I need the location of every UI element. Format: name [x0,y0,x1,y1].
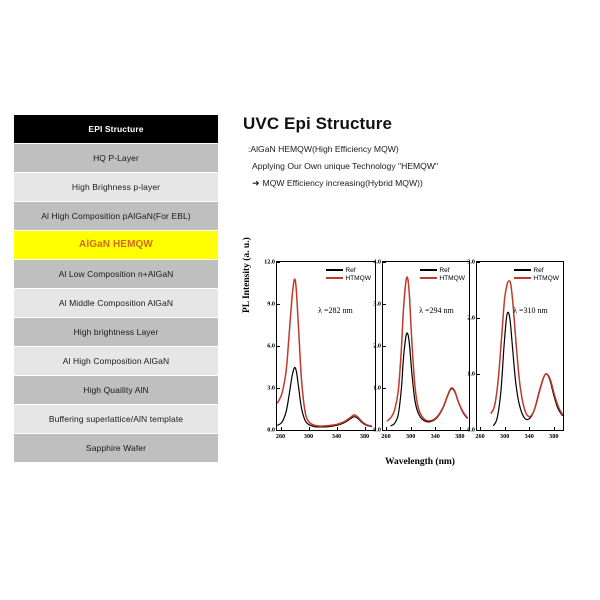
y-axis-tick-label: 3.0 [467,259,475,266]
spectra-curves [477,262,563,430]
legend-label: Ref [533,267,543,274]
plot-area: 0.01.02.03.0260300340380RefHTMQWλ =310 n… [476,261,564,431]
bullet-item-3-label: MQW Efficiency increasing(Hybrid MQW)) [263,178,423,188]
chart-panels: 0.03.06.09.012.0260300340380RefHTMQWλ =2… [276,261,564,431]
series-line-ref [391,333,467,426]
bullet-list: :AlGaN HEMQW(High Efficiency MQW) Applyi… [248,141,578,192]
stack-layer: Al Low Composition n+AlGaN [14,260,218,288]
bullet-item-2: Applying Our Own unique Technology "HEMQ… [252,158,578,175]
stack-layer: Al High Composition pAlGaN(For EBL) [14,202,218,230]
x-axis-tick-label: 300 [406,433,415,440]
x-axis-tick-label: 340 [332,433,341,440]
plot-area: 0.03.06.09.012.0260300340380RefHTMQWλ =2… [276,261,376,431]
legend-label: Ref [345,267,355,274]
chart-panel: 0.01.02.03.04.0260300340380RefHTMQWλ =29… [382,261,470,431]
series-line-ref [278,367,372,427]
y-axis-tick-label: 1.0 [467,371,475,378]
stack-layer-hemqw: AlGaN HEMQW [14,231,218,259]
legend-swatch-ref [514,269,531,271]
legend-swatch-ref [326,269,343,271]
legend-item: Ref [326,266,371,274]
y-axis-label: PL Intensity (a. u.) [242,237,252,313]
y-axis-tick-mark [383,430,386,431]
chart-panel: 0.03.06.09.012.0260300340380RefHTMQWλ =2… [276,261,376,431]
y-axis-tick-label: 0.0 [267,427,275,434]
stack-layer: Buffering superlattice/AlN template [14,405,218,433]
x-axis-tick-label: 300 [304,433,313,440]
y-axis-tick-label: 0.0 [467,427,475,434]
y-axis-tick-label: 3.0 [373,301,381,308]
legend-swatch-htmqw [420,277,437,279]
x-axis-label: Wavelength (nm) [246,457,594,467]
epi-structure-stack: EPI Structure HQ P-LayerHigh Brighness p… [14,115,218,463]
legend-swatch-htmqw [326,277,343,279]
x-axis-tick-label: 340 [525,433,534,440]
x-axis-tick-label: 260 [381,433,390,440]
wavelength-annotation: λ =294 nm [419,306,454,315]
bullet-item-3: ➜MQW Efficiency increasing(Hybrid MQW)) [252,175,578,192]
y-axis-tick-label: 2.0 [467,315,475,322]
legend-swatch-htmqw [514,277,531,279]
stack-layer: HQ P-Layer [14,144,218,172]
wavelength-annotation: λ =282 nm [318,306,353,315]
stack-layer: Al High Composition AlGaN [14,347,218,375]
x-axis-tick-label: 380 [360,433,369,440]
series-line-ref [494,312,563,425]
spectra-curves [277,262,375,430]
y-axis-tick-mark [277,430,280,431]
y-axis-tick-label: 9.0 [267,301,275,308]
y-axis-tick-label: 12.0 [264,259,275,266]
legend-label: HTMQW [345,275,371,282]
chart-legend: RefHTMQW [514,266,559,282]
series-line-htmqw [278,279,372,426]
legend-label: HTMQW [533,275,559,282]
y-axis-tick-label: 4.0 [373,259,381,266]
plot-area: 0.01.02.03.04.0260300340380RefHTMQWλ =29… [382,261,470,431]
y-axis-tick-mark [477,430,480,431]
series-line-htmqw [491,281,562,417]
legend-label: Ref [439,267,449,274]
y-axis-tick-label: 6.0 [267,343,275,350]
legend-item: HTMQW [420,274,465,282]
pl-spectra-figure: PL Intensity (a. u.) 0.03.06.09.012.0260… [246,253,594,475]
chart-legend: RefHTMQW [326,266,371,282]
y-axis-tick-label: 1.0 [373,385,381,392]
series-line-htmqw [387,277,467,421]
x-axis-tick-label: 260 [276,433,285,440]
spectra-curves [383,262,469,430]
x-axis-tick-label: 260 [475,433,484,440]
stack-header: EPI Structure [14,115,218,143]
legend-item: HTMQW [326,274,371,282]
bullet-item-1: :AlGaN HEMQW(High Efficiency MQW) [248,141,578,158]
x-axis-tick-label: 300 [500,433,509,440]
slide-canvas: EPI Structure HQ P-LayerHigh Brighness p… [0,0,600,600]
x-axis-tick-label: 340 [431,433,440,440]
legend-item: Ref [514,266,559,274]
stack-layer: Al Middle Composition AlGaN [14,289,218,317]
y-axis-tick-label: 0.0 [373,427,381,434]
y-axis-tick-label: 2.0 [373,343,381,350]
chart-panel: 0.01.02.03.0260300340380RefHTMQWλ =310 n… [476,261,564,431]
legend-label: HTMQW [439,275,465,282]
chart-legend: RefHTMQW [420,266,465,282]
page-title: UVC Epi Structure [243,114,392,134]
stack-layer: High Quaility AlN [14,376,218,404]
stack-layer: High brightness Layer [14,318,218,346]
arrow-right-icon: ➜ [252,178,263,188]
y-axis-tick-label: 3.0 [267,385,275,392]
x-axis-tick-label: 380 [549,433,558,440]
x-axis-tick-label: 380 [455,433,464,440]
legend-swatch-ref [420,269,437,271]
wavelength-annotation: λ =310 nm [513,306,548,315]
legend-item: HTMQW [514,274,559,282]
legend-item: Ref [420,266,465,274]
stack-layer: Sapphire Wafer [14,434,218,462]
stack-layer: High Brighness p-layer [14,173,218,201]
